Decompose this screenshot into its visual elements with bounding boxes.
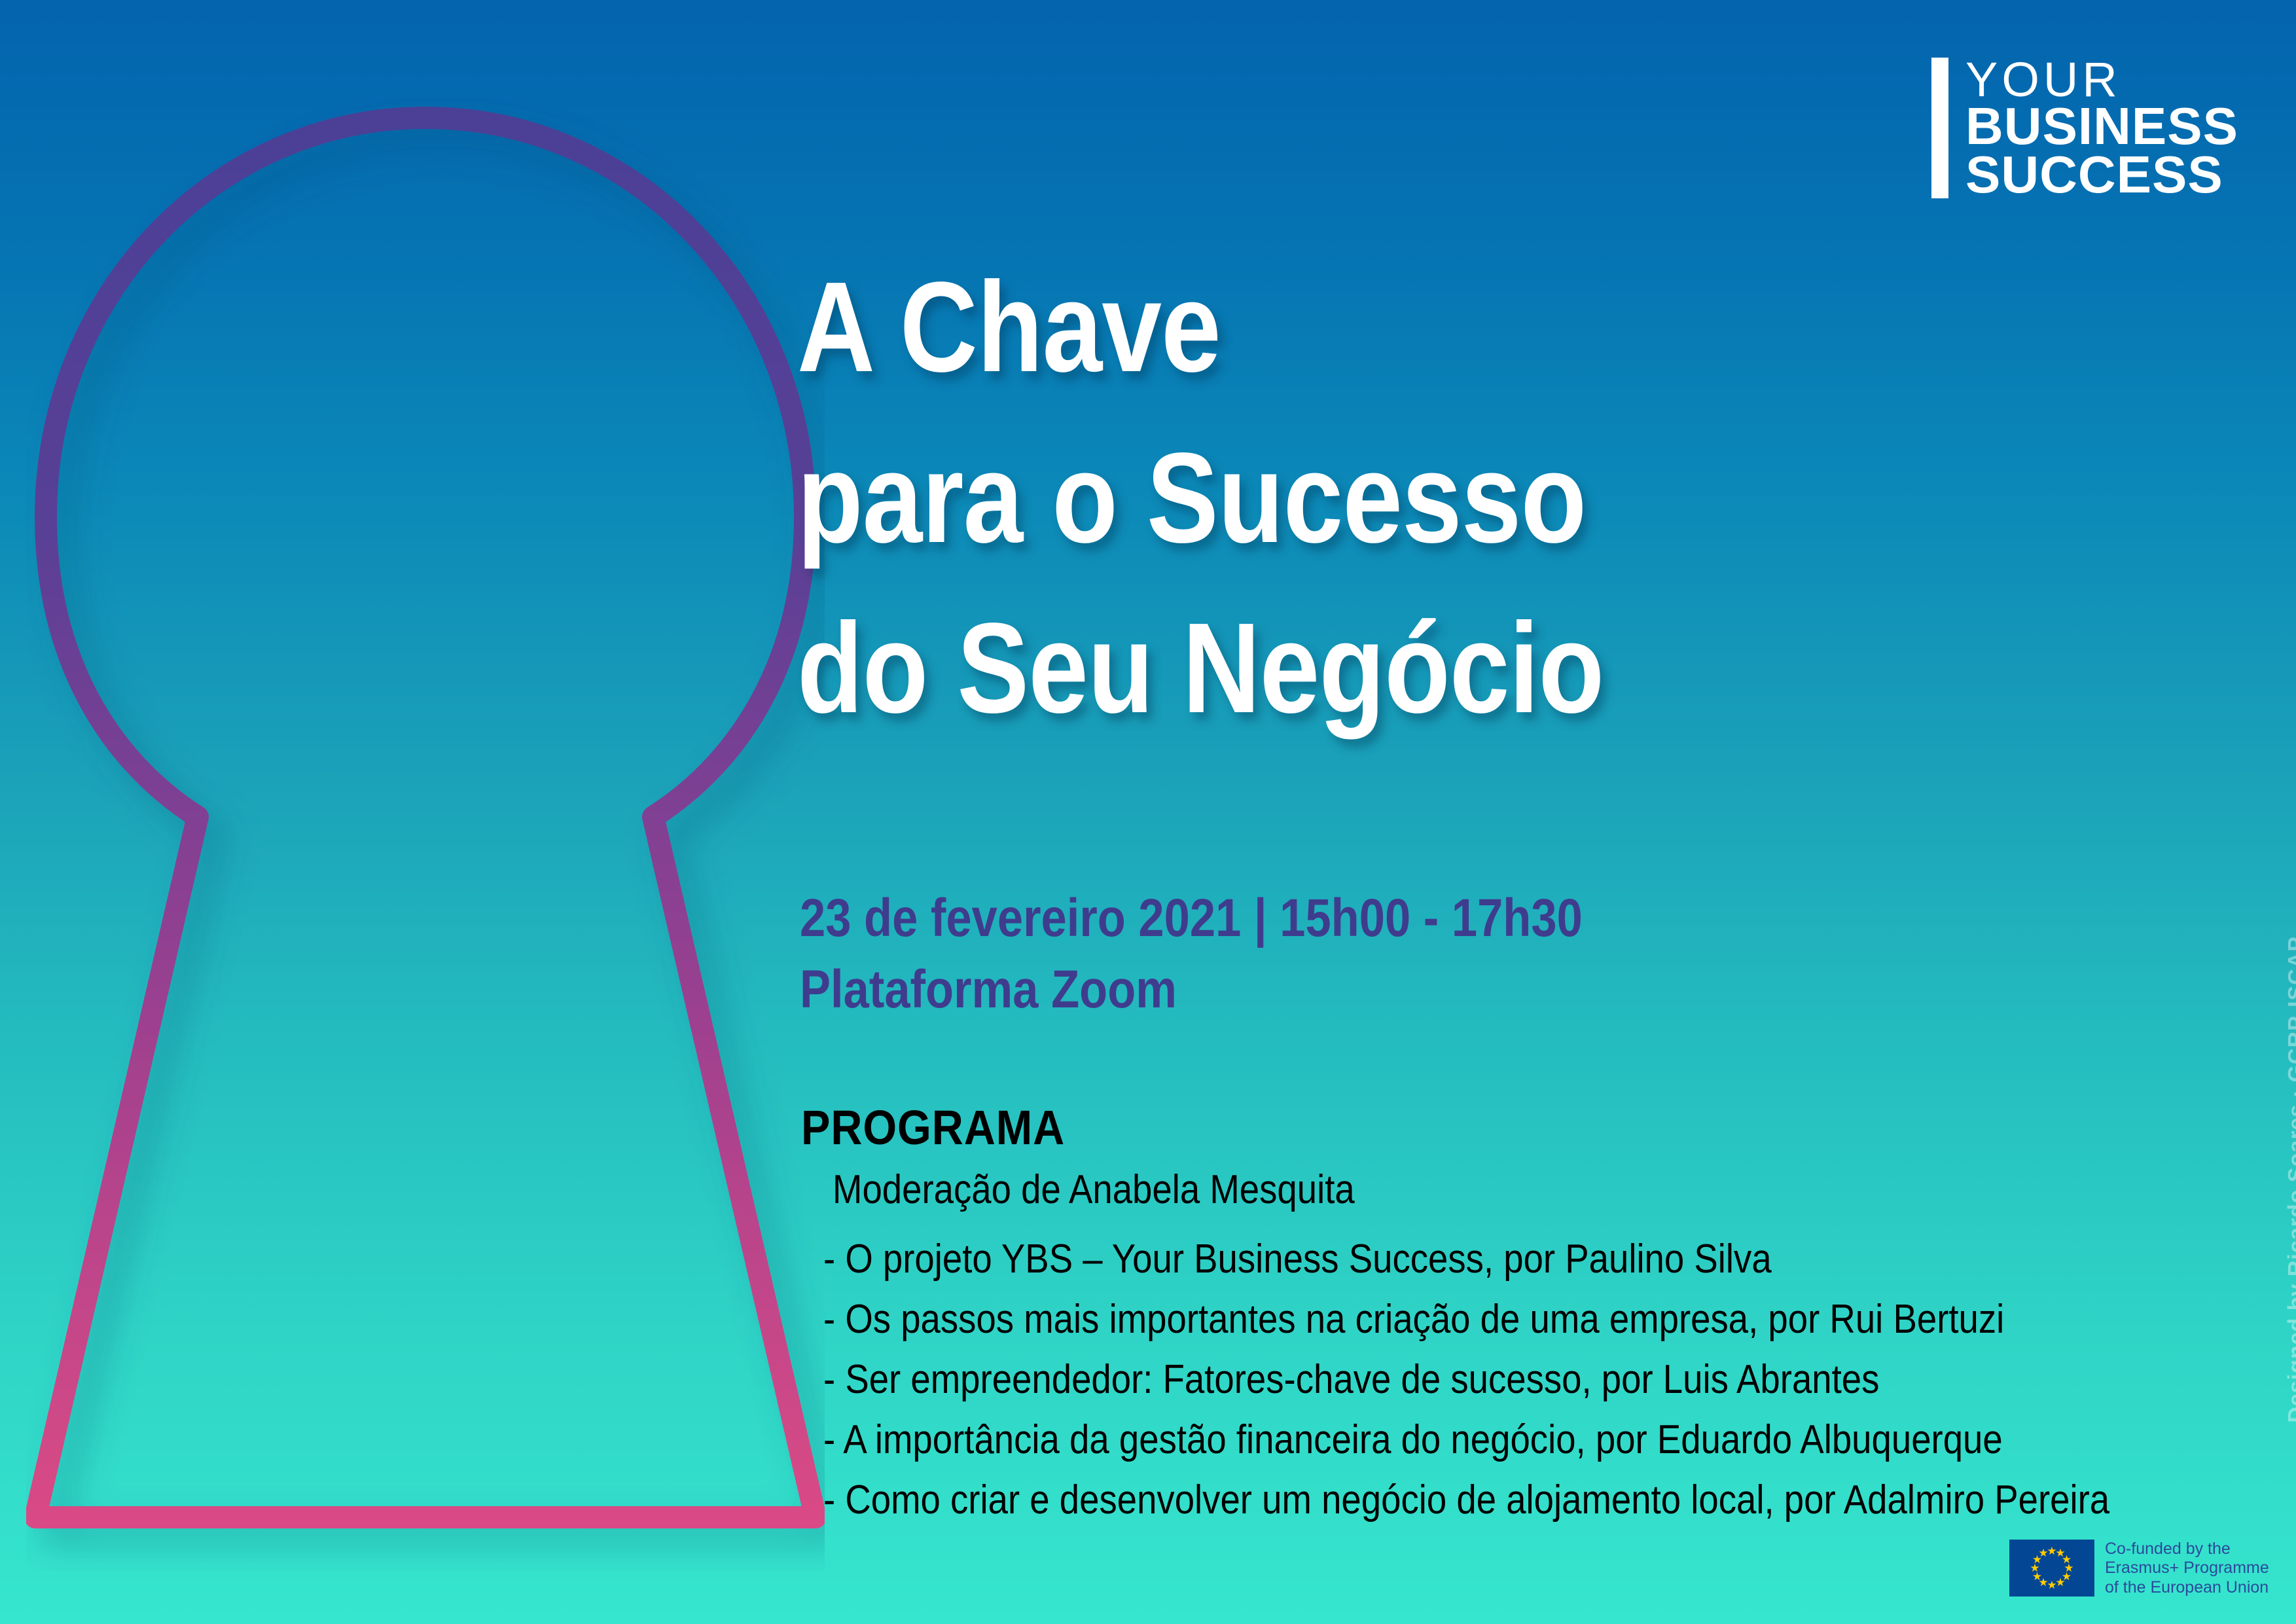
eu-funding-text: Co-funded by the Erasmus+ Programme of t… [2105, 1540, 2269, 1597]
page-title: A Chave para o Sucesso do Seu Negócio [797, 242, 1929, 754]
logo-line-success: SUCCESS [1965, 151, 2238, 199]
logo-line-business: BUSINESS [1965, 102, 2238, 151]
headline-line-3: do Seu Negócio [797, 583, 1929, 754]
list-item: - Como criar e desenvolver um negócio de… [823, 1470, 2108, 1530]
keyhole-graphic [26, 98, 825, 1571]
event-details: 23 de fevereiro 2021 | 15h00 - 17h30 Pla… [800, 882, 1583, 1025]
program-heading: PROGRAMA [801, 1100, 1065, 1155]
list-item: - Ser empreendedor: Fatores-chave de suc… [823, 1350, 2108, 1410]
event-date-time: 23 de fevereiro 2021 | 15h00 - 17h30 [800, 882, 1583, 954]
eu-text-line-3: of the European Union [2105, 1578, 2269, 1597]
headline-line-2: para o Sucesso [797, 413, 1929, 584]
list-item: - O projeto YBS – Your Business Success,… [823, 1229, 2108, 1290]
logo-bar-icon [1931, 58, 1948, 198]
eu-funding-badge: ★★★★★★★★★★★★ Co-funded by the Erasmus+ P… [2009, 1540, 2269, 1597]
logo-line-your: YOUR [1965, 58, 2238, 102]
logo-wordmark: YOUR BUSINESS SUCCESS [1965, 58, 2238, 198]
program-moderation: Moderação de Anabela Mesquita [833, 1166, 1355, 1213]
event-platform: Plataforma Zoom [800, 954, 1583, 1025]
eu-text-line-2: Erasmus+ Programme [2105, 1559, 2269, 1578]
brand-logo: YOUR BUSINESS SUCCESS [1931, 58, 2238, 198]
eu-star-icon: ★ [2038, 1547, 2049, 1559]
poster-canvas: YOUR BUSINESS SUCCESS A Chave para o Suc… [0, 0, 2296, 1624]
eu-text-line-1: Co-funded by the [2105, 1540, 2269, 1559]
designer-credit: Designed by Ricardo Soares · GCRP-ISCAP [2284, 936, 2296, 1423]
headline-line-1: A Chave [797, 242, 1929, 413]
list-item: - Os passos mais importantes na criação … [823, 1290, 2108, 1350]
eu-flag-icon: ★★★★★★★★★★★★ [2009, 1540, 2094, 1597]
list-item: - A importância da gestão financeira do … [823, 1410, 2108, 1470]
program-list: - O projeto YBS – Your Business Success,… [823, 1229, 2283, 1530]
